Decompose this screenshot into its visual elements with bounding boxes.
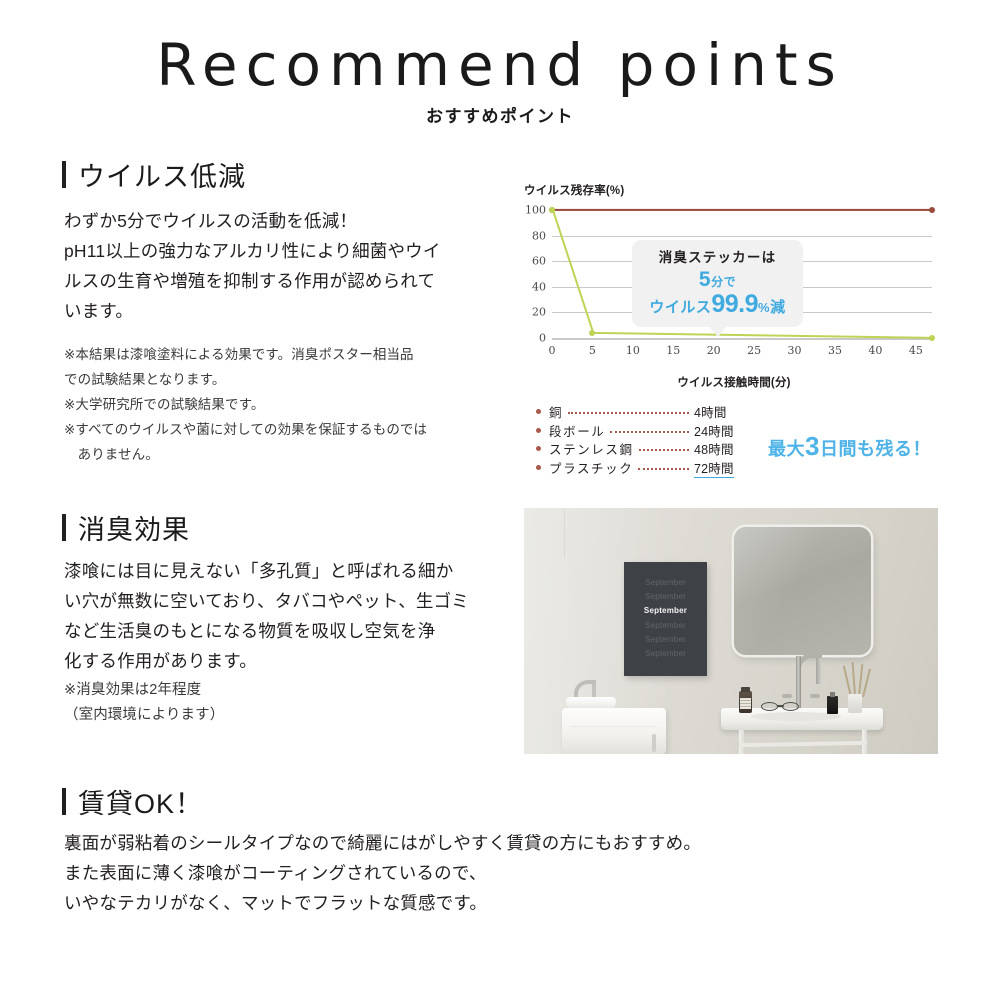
legend-item-value: 4時間 <box>694 402 727 421</box>
chart-y-tick: 0 <box>539 332 546 345</box>
chart-x-tick: 5 <box>589 344 596 357</box>
bathroom-mirror <box>734 527 871 655</box>
chart-legend: 銅4時間段ボール24時間ステンレス鋼48時間プラスチック72時間 <box>536 402 734 476</box>
legend-item-label: 段ボール <box>549 421 605 440</box>
chart-x-tick: 40 <box>868 344 882 357</box>
callout-line-2-tail: で <box>724 275 737 289</box>
chart-y-tick: 100 <box>525 204 546 217</box>
callout-bubble: 消臭ステッカーは 5分で ウイルス99.9%減 <box>632 240 803 327</box>
september-poster: SeptemberSeptemberSeptemberSeptemberSept… <box>624 562 707 676</box>
chart-y-tick: 40 <box>532 280 546 293</box>
heading-accent-bar <box>62 514 66 541</box>
legend-item: ステンレス鋼48時間 <box>536 439 734 458</box>
glasses-lens <box>761 702 778 711</box>
chart-series-segment <box>552 210 594 334</box>
chart-x-tick: 25 <box>747 344 761 357</box>
section-heading-virus-reduction: ウイルス低減 <box>62 155 246 194</box>
heading-accent-bar <box>62 161 66 188</box>
toilet-flush-lever <box>652 734 656 752</box>
chart-series-segment <box>552 209 932 211</box>
recommend-points-page: Recommend points おすすめポイント ウイルス低減 わずか5分でウ… <box>0 0 1000 1000</box>
chart-x-axis-label: ウイルス接触時間(分) <box>524 374 944 390</box>
legend-item-label: ステンレス鋼 <box>549 439 634 458</box>
legend-leader-dots <box>568 412 689 414</box>
toilet-tank <box>562 708 666 754</box>
legend-item-value: 72時間 <box>694 458 734 478</box>
section-title: 賃貸OK！ <box>78 782 203 821</box>
legend-bullet-icon <box>536 428 541 433</box>
callout-virus-word: ウイルス <box>649 299 711 316</box>
badge-suffix: 日間も残る！ <box>820 439 931 459</box>
sink-faucet-spout <box>816 658 821 684</box>
legend-item-value: 24時間 <box>694 421 734 440</box>
amber-bottle <box>739 691 752 713</box>
legend-leader-dots <box>639 449 689 451</box>
poster-text-line: September <box>624 576 707 590</box>
legend-leader-dots <box>638 468 689 470</box>
callout-percent-number: 99.9 <box>711 290 758 318</box>
callout-line-1: 消臭ステッカーは <box>642 249 793 267</box>
legend-bullet-icon <box>536 446 541 451</box>
bathroom-photo: SeptemberSeptemberSeptemberSeptemberSept… <box>524 508 938 754</box>
legend-item: 段ボール24時間 <box>536 421 734 440</box>
chart-x-tick: 10 <box>626 344 640 357</box>
poster-text-line: September <box>624 604 707 618</box>
poster-text-line: September <box>624 647 707 661</box>
chart-data-point <box>549 207 555 213</box>
chart-y-axis-label: ウイルス残存率(%) <box>524 182 624 198</box>
legend-item: 銅4時間 <box>536 402 734 421</box>
callout-reduce-word: 減 <box>770 299 786 316</box>
page-title: Recommend points <box>0 36 1000 94</box>
chart-data-point <box>589 330 595 336</box>
callout-line-3: ウイルス99.9%減 <box>642 291 793 317</box>
chart-x-tick: 0 <box>549 344 556 357</box>
vanity-leg <box>739 730 744 754</box>
poster-text-line: September <box>624 619 707 633</box>
legend-item: プラスチック72時間 <box>536 458 734 477</box>
callout-minutes-number: 5 <box>699 268 711 291</box>
legend-item-label: 銅 <box>549 402 563 421</box>
glasses-lens <box>782 702 799 711</box>
callout-tail <box>709 326 727 337</box>
chart-x-tick: 30 <box>788 344 802 357</box>
photo-wall-seam <box>564 508 565 558</box>
callout-line-2: 5分で <box>642 269 793 291</box>
chart-gridline <box>552 236 932 237</box>
bottle-cap <box>741 687 750 692</box>
status-badge-3-days: 最大3日間も残る！ <box>768 431 931 462</box>
legend-bullet-icon <box>536 409 541 414</box>
sink-handle-right <box>810 694 820 698</box>
toilet-faucet-spout <box>592 684 596 698</box>
section-body-rental-ok: 裏面が弱粘着のシールタイプなので綺麗にはがしやすく賃貸の方にもおすすめ。 また表… <box>64 828 864 918</box>
badge-number: 3 <box>805 431 820 461</box>
page-subtitle: おすすめポイント <box>0 102 1000 127</box>
perfume-cap <box>830 692 835 697</box>
chart-y-tick: 60 <box>532 255 546 268</box>
poster-text-line: September <box>624 633 707 647</box>
bottle-label <box>740 698 751 709</box>
sink-faucet-neck <box>796 656 801 708</box>
chart-x-tick: 15 <box>666 344 680 357</box>
reed-diffuser-jar <box>848 694 862 713</box>
chart-y-tick: 80 <box>532 229 546 242</box>
chart-x-tick: 45 <box>909 344 923 357</box>
section-heading-deodorizing: 消臭効果 <box>62 508 190 547</box>
chart-data-point <box>929 335 935 341</box>
eyeglasses <box>761 702 801 712</box>
chart-x-tick: 20 <box>707 344 721 357</box>
poster-text-line: September <box>624 590 707 604</box>
section-body-virus-reduction: わずか5分でウイルスの活動を低減！ pH11以上の強力なアルカリ性により細菌やウ… <box>64 206 512 326</box>
legend-item-label: プラスチック <box>549 458 633 477</box>
section-notes-virus-reduction: ※本結果は漆喰塗料による効果です。消臭ポスター相当品 での試験結果となります。 … <box>64 343 519 468</box>
legend-item-value: 48時間 <box>694 439 734 458</box>
perfume-bottle <box>827 696 838 714</box>
chart-x-tick: 35 <box>828 344 842 357</box>
section-title: ウイルス低減 <box>78 155 246 194</box>
section-title: 消臭効果 <box>78 508 190 547</box>
mirror-gleam <box>734 527 871 655</box>
sink-handle-left <box>782 694 792 698</box>
heading-accent-bar <box>62 788 66 815</box>
section-heading-rental-ok: 賃貸OK！ <box>62 782 203 821</box>
callout-percent-sign: % <box>758 300 770 315</box>
badge-prefix: 最大 <box>768 439 805 459</box>
section-body-deodorizing: 漆喰には目に見えない「多孔質」と呼ばれる細か い穴が無数に空いており、タバコやペ… <box>64 556 514 676</box>
legend-leader-dots <box>610 431 689 433</box>
callout-minutes-unit: 分 <box>711 275 724 289</box>
tank-seam <box>570 726 656 727</box>
section-notes-deodorizing: ※消臭効果は2年程度 （室内環境によります） <box>64 678 484 728</box>
legend-bullet-icon <box>536 465 541 470</box>
chart-y-tick: 20 <box>532 306 546 319</box>
chart-data-point <box>929 207 935 213</box>
